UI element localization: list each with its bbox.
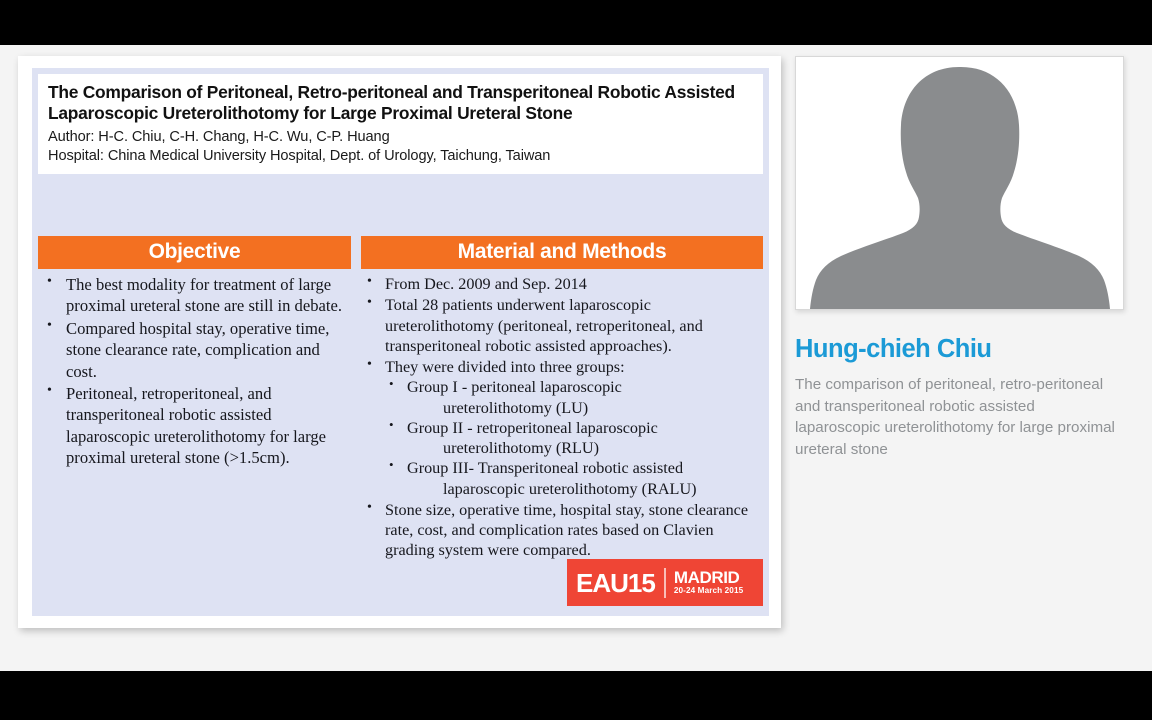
- badge-divider: [664, 568, 666, 598]
- methods-bullet-list: From Dec. 2009 and Sep. 2014 Total 28 pa…: [361, 269, 763, 561]
- letterbox-bottom: [0, 671, 1152, 720]
- presentation-stage: The Comparison of Peritoneal, Retro-peri…: [0, 45, 1152, 671]
- slide-author-line: Author: H-C. Chiu, C-H. Chang, H-C. Wu, …: [48, 128, 753, 147]
- list-item: The best modality for treatment of large…: [40, 274, 349, 317]
- group-2-line-2: ureterolithotomy (RLU): [407, 438, 761, 458]
- speaker-name: Hung-chieh Chiu: [795, 335, 1135, 363]
- methods-column: Material and Methods From Dec. 2009 and …: [361, 236, 763, 612]
- letterbox-top: [0, 0, 1152, 45]
- group-1-line-2: ureterolithotomy (LU): [407, 398, 761, 418]
- speaker-description: The comparison of peritoneal, retro-peri…: [795, 374, 1115, 460]
- eau-congress-badge: EAU15 MADRID 20-24 March 2015: [567, 559, 763, 606]
- objective-column: Objective The best modality for treatmen…: [38, 236, 351, 612]
- list-item: Stone size, operative time, hospital sta…: [363, 500, 761, 561]
- list-item: Total 28 patients underwent laparoscopic…: [363, 295, 761, 356]
- list-item: Compared hospital stay, operative time, …: [40, 318, 349, 382]
- list-item: From Dec. 2009 and Sep. 2014: [363, 274, 761, 294]
- list-item: Group I - peritoneal laparoscopic ureter…: [385, 377, 761, 418]
- list-item: They were divided into three groups: Gro…: [363, 357, 761, 499]
- group-2-line-1: Group II - retroperitoneal laparoscopic: [407, 419, 658, 437]
- speaker-panel: Hung-chieh Chiu The comparison of perito…: [795, 56, 1135, 460]
- slide-title: The Comparison of Peritoneal, Retro-peri…: [48, 82, 753, 125]
- slide-hospital-line: Hospital: China Medical University Hospi…: [48, 147, 753, 166]
- methods-heading: Material and Methods: [361, 236, 763, 269]
- slide-title-box: The Comparison of Peritoneal, Retro-peri…: [38, 74, 763, 174]
- eau-city-label: MADRID: [674, 569, 743, 587]
- list-item: Group II - retroperitoneal laparoscopic …: [385, 418, 761, 459]
- slide-columns: Objective The best modality for treatmen…: [38, 236, 763, 612]
- eau-brand-label: EAU15: [576, 570, 655, 596]
- list-item: Group III- Transperitoneal robotic assis…: [385, 458, 761, 499]
- video-player-viewport: The Comparison of Peritoneal, Retro-peri…: [0, 0, 1152, 720]
- group-1-line-1: Group I - peritoneal laparoscopic: [407, 378, 622, 396]
- slide-body: The Comparison of Peritoneal, Retro-peri…: [32, 68, 769, 616]
- avatar: [795, 56, 1124, 310]
- badge-location-block: MADRID 20-24 March 2015: [674, 569, 743, 595]
- methods-groups-intro: They were divided into three groups:: [385, 358, 625, 376]
- group-3-line-2: laparoscopic ureterolithotomy (RALU): [407, 479, 761, 499]
- eau-dates-label: 20-24 March 2015: [674, 587, 743, 596]
- slide-card[interactable]: The Comparison of Peritoneal, Retro-peri…: [18, 56, 781, 628]
- person-silhouette-icon: [796, 57, 1123, 309]
- objective-heading: Objective: [38, 236, 351, 269]
- group-3-line-1: Group III- Transperitoneal robotic assis…: [407, 459, 683, 477]
- methods-group-sublist: Group I - peritoneal laparoscopic ureter…: [385, 377, 761, 499]
- objective-bullet-list: The best modality for treatment of large…: [38, 269, 351, 469]
- list-item: Peritoneal, retroperitoneal, and transpe…: [40, 383, 349, 469]
